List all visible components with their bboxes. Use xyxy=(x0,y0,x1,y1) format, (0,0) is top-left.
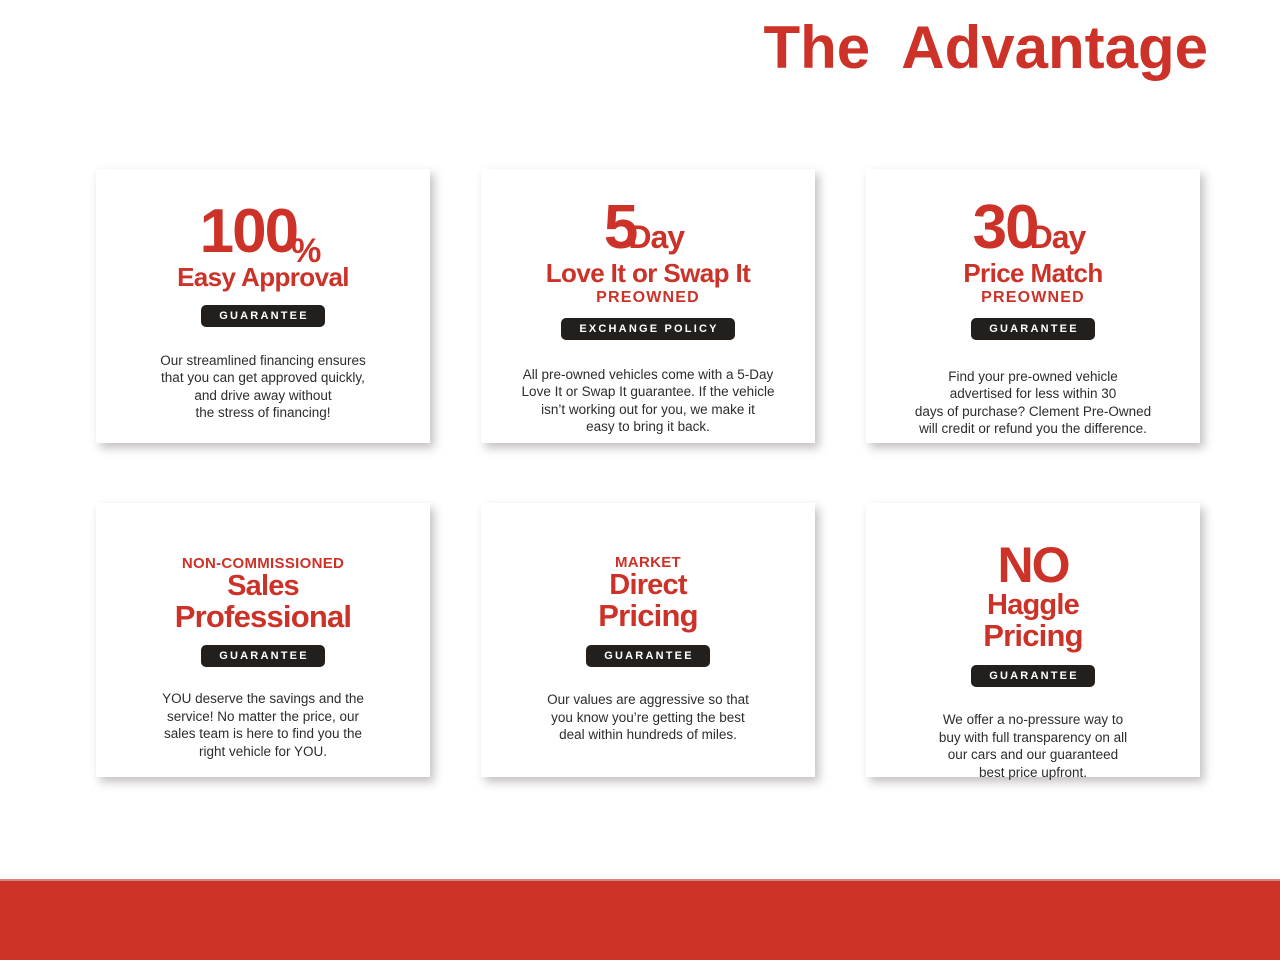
card-headline-line2: Sales xyxy=(110,571,416,601)
advantage-card-price-match[interactable]: 30Day Price Match PREOWNED GUARANTEE Fin… xyxy=(866,169,1200,443)
hero-number: 30 xyxy=(973,193,1038,262)
card-subheadline: Love It or Swap It xyxy=(495,259,801,288)
hero-number: 100 xyxy=(200,197,297,266)
status-badge: GUARANTEE xyxy=(201,645,324,667)
card-headline: 5Day Love It or Swap It PREOWNED xyxy=(495,197,801,306)
card-hero-line: NO xyxy=(880,540,1186,590)
card-hero-line: 100% xyxy=(110,201,416,263)
badge-wrapper: GUARANTEE xyxy=(971,318,1094,340)
badge-wrapper: GUARANTEE xyxy=(201,645,324,667)
bottom-accent-bar xyxy=(0,881,1280,960)
hero-suffix: Day xyxy=(1030,219,1086,255)
card-subheadline: Easy Approval xyxy=(110,263,416,292)
card-hero-line: 30Day xyxy=(880,197,1186,259)
hero-percent-symbol: % xyxy=(291,232,320,270)
badge-wrapper: GUARANTEE xyxy=(586,645,709,667)
card-headline-line2: Haggle xyxy=(880,590,1186,620)
card-body-text: All pre-owned vehicles come with a 5-Day… xyxy=(522,366,775,436)
card-headline: NON-COMMISSIONED Sales Professional xyxy=(110,556,416,632)
advantage-card-easy-approval[interactable]: 100% Easy Approval GUARANTEE Our streaml… xyxy=(96,169,430,443)
advantage-card-no-haggle-pricing[interactable]: NO Haggle Pricing GUARANTEE We offer a n… xyxy=(866,503,1200,777)
card-body-text: We offer a no-pressure way to buy with f… xyxy=(939,711,1127,781)
advantage-card-love-it-or-swap-it[interactable]: 5Day Love It or Swap It PREOWNED EXCHANG… xyxy=(481,169,815,443)
card-kicker: NON-COMMISSIONED xyxy=(110,556,416,571)
status-badge: EXCHANGE POLICY xyxy=(561,318,734,340)
badge-wrapper: GUARANTEE xyxy=(201,305,324,327)
status-badge: GUARANTEE xyxy=(201,305,324,327)
page-title: The Advantage xyxy=(763,18,1208,78)
card-headline: NO Haggle Pricing xyxy=(880,540,1186,651)
card-headline-line3: Professional xyxy=(110,601,416,632)
hero-suffix: Day xyxy=(628,219,684,255)
advantage-card-market-direct-pricing[interactable]: MARKET Direct Pricing GUARANTEE Our valu… xyxy=(481,503,815,777)
advantage-card-sales-professional[interactable]: NON-COMMISSIONED Sales Professional GUAR… xyxy=(96,503,430,777)
card-subheadline: Price Match xyxy=(880,259,1186,288)
badge-wrapper: EXCHANGE POLICY xyxy=(561,318,734,340)
card-preowned-label: PREOWNED xyxy=(880,290,1186,306)
card-headline-line3: Pricing xyxy=(880,620,1186,651)
card-body-text: Our values are aggressive so that you kn… xyxy=(547,691,749,744)
card-headline-line2: Direct xyxy=(495,570,801,600)
card-preowned-label: PREOWNED xyxy=(495,290,801,306)
card-body-text: Find your pre-owned vehicle advertised f… xyxy=(915,368,1151,438)
status-badge: GUARANTEE xyxy=(971,665,1094,687)
status-badge: GUARANTEE xyxy=(586,645,709,667)
card-headline-line3: Pricing xyxy=(495,600,801,631)
card-headline: MARKET Direct Pricing xyxy=(495,555,801,631)
card-kicker: MARKET xyxy=(495,555,801,570)
advantage-card-grid: 100% Easy Approval GUARANTEE Our streaml… xyxy=(96,169,1200,777)
badge-wrapper: GUARANTEE xyxy=(971,665,1094,687)
card-headline: 30Day Price Match PREOWNED xyxy=(880,197,1186,306)
status-badge: GUARANTEE xyxy=(971,318,1094,340)
card-hero-line: 5Day xyxy=(495,197,801,259)
card-body-text: YOU deserve the savings and the service!… xyxy=(162,690,364,760)
card-headline: 100% Easy Approval xyxy=(110,201,416,292)
card-body-text: Our streamlined financing ensures that y… xyxy=(160,352,366,422)
hero-word: NO xyxy=(998,537,1069,593)
